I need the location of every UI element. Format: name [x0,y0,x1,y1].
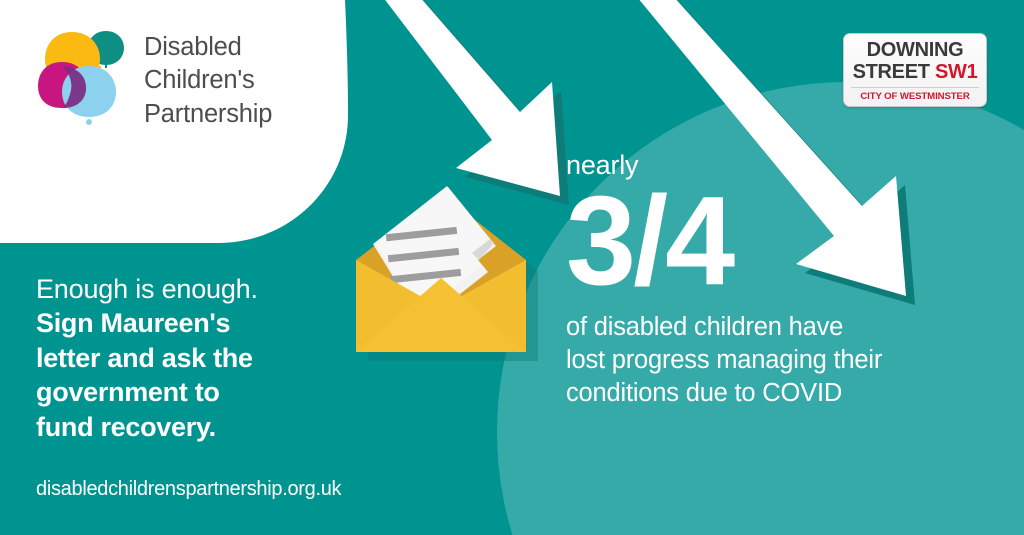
sign-borough: CITY OF WESTMINSTER [851,91,979,102]
logo-line-3: Partnership [144,100,272,128]
campaign-url[interactable]: disabledchildrenspartnership.org.uk [36,478,341,501]
logo-wordmark: Disabled Children's Partnership [144,31,272,130]
sign-divider [851,87,979,88]
downing-street-sign: DOWNING STREET SW1 CITY OF WESTMINSTER [843,33,987,107]
sign-street-word: STREET [853,61,930,83]
sign-postcode: SW1 [935,61,977,83]
sign-line-street: STREET SW1 [851,62,979,83]
logo-line-1: Disabled [144,33,242,61]
call-to-action-block: Enough is enough. Sign Maureen's letter … [36,272,366,444]
stat-description: of disabled children have lost progress … [566,311,966,410]
arrow-down-right-left-icon [376,0,560,196]
brand-logo: Disabled Children's Partnership [34,26,272,136]
infographic-canvas: Disabled Children's Partnership DOWNING … [0,0,1024,535]
sign-line-downing: DOWNING [851,40,979,61]
stat-value: 3/4 [566,181,966,302]
logo-balloons-icon [34,26,130,136]
logo-line-2: Children's [144,66,255,94]
statistic-block: nearly 3/4 of disabled children have los… [566,152,966,410]
cta-bold-lines: Sign Maureen's letter and ask the govern… [36,306,366,444]
cta-light-line: Enough is enough. [36,272,366,306]
